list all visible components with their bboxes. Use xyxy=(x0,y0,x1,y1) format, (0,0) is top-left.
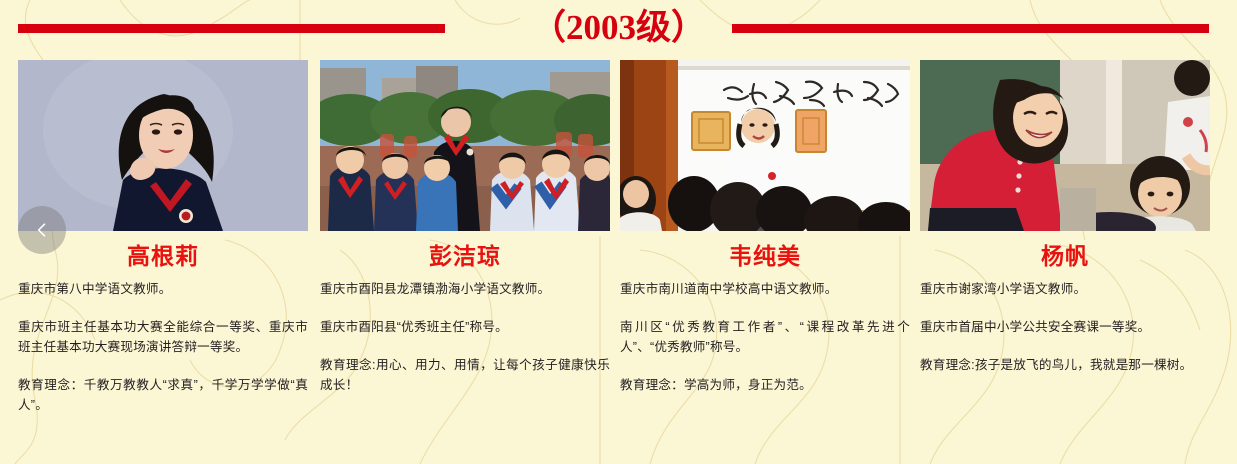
person-bio: 重庆市第八中学语文教师。 重庆市班主任基本功大赛全能综合一等奖、重庆市班主任基本… xyxy=(18,279,308,415)
person-photo xyxy=(18,60,308,231)
bio-paragraph: 教育理念：千教万教教人“求真”，千学万学学做“真人”。 xyxy=(18,375,308,415)
person-card: 杨帆 重庆市谢家湾小学语文教师。 重庆市首届中小学公共安全赛课一等奖。 教育理念… xyxy=(920,60,1210,375)
bio-paragraph: 重庆市南川道南中学校高中语文教师。 xyxy=(620,279,910,299)
person-photo xyxy=(620,60,910,231)
person-card: 韦纯美 重庆市南川道南中学校高中语文教师。 南川区“优秀教育工作者”、“课程改革… xyxy=(620,60,910,395)
bio-paragraph: 教育理念:用心、用力、用情，让每个孩子健康快乐成长！ xyxy=(320,355,610,395)
bio-paragraph: 教育理念:孩子是放飞的鸟儿，我就是那一棵树。 xyxy=(920,355,1210,375)
person-photo xyxy=(320,60,610,231)
bio-paragraph: 重庆市第八中学语文教师。 xyxy=(18,279,308,299)
person-name: 杨帆 xyxy=(920,242,1210,270)
person-name: 高根莉 xyxy=(18,242,308,270)
person-bio: 重庆市南川道南中学校高中语文教师。 南川区“优秀教育工作者”、“课程改革先进个人… xyxy=(620,279,910,395)
people-list: 高根莉 重庆市第八中学语文教师。 重庆市班主任基本功大赛全能综合一等奖、重庆市班… xyxy=(0,0,1237,464)
carousel-prev-button[interactable] xyxy=(18,206,66,254)
bio-paragraph: 重庆市酉阳县龙潭镇渤海小学语文教师。 xyxy=(320,279,610,299)
person-bio: 重庆市谢家湾小学语文教师。 重庆市首届中小学公共安全赛课一等奖。 教育理念:孩子… xyxy=(920,279,1210,375)
page-header: （2003级） xyxy=(0,0,1237,56)
bio-paragraph: 重庆市谢家湾小学语文教师。 xyxy=(920,279,1210,299)
bio-paragraph: 重庆市班主任基本功大赛全能综合一等奖、重庆市班主任基本功大赛现场演讲答辩一等奖。 xyxy=(18,317,308,357)
bio-paragraph: 重庆市酉阳县“优秀班主任”称号。 xyxy=(320,317,610,337)
person-photo xyxy=(920,60,1210,231)
bio-paragraph: 教育理念：学高为师，身正为范。 xyxy=(620,375,910,395)
person-name: 彭洁琼 xyxy=(320,242,610,270)
chevron-left-icon xyxy=(32,220,52,240)
bio-paragraph: 南川区“优秀教育工作者”、“课程改革先进个人”、“优秀教师”称号。 xyxy=(620,317,910,357)
page-title: （2003级） xyxy=(0,0,1237,56)
person-card: 彭洁琼 重庆市酉阳县龙潭镇渤海小学语文教师。 重庆市酉阳县“优秀班主任”称号。 … xyxy=(320,60,610,395)
person-bio: 重庆市酉阳县龙潭镇渤海小学语文教师。 重庆市酉阳县“优秀班主任”称号。 教育理念… xyxy=(320,279,610,395)
person-name: 韦纯美 xyxy=(620,242,910,270)
bio-paragraph: 重庆市首届中小学公共安全赛课一等奖。 xyxy=(920,317,1210,337)
